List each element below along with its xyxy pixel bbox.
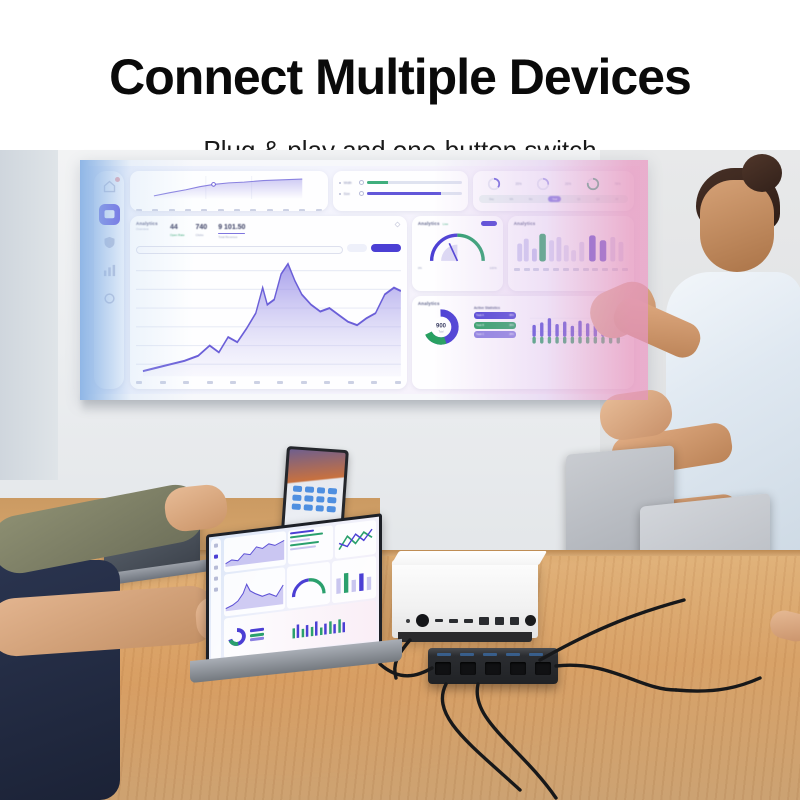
dock-usbc-port[interactable] xyxy=(435,619,443,622)
analytics-area-chart xyxy=(136,257,401,380)
card-gauge: Analytics Live xyxy=(412,216,503,291)
hub-port[interactable] xyxy=(485,662,501,675)
axis-ticks-x xyxy=(514,268,628,271)
segment-option[interactable]: Day xyxy=(489,198,494,201)
top-trend-line-chart xyxy=(136,176,322,202)
donut-center-label: Total xyxy=(438,331,443,334)
dock-hdmi-port[interactable] xyxy=(479,617,489,625)
gauge-min: 0% xyxy=(418,266,422,270)
legend-label: Track C xyxy=(476,333,484,336)
segment-option[interactable]: Wk xyxy=(510,198,514,201)
mini-icon xyxy=(214,576,218,580)
dock-usba-port[interactable] xyxy=(449,619,458,623)
dashboard-sidebar xyxy=(94,171,124,389)
legend-row[interactable]: Track A 48% xyxy=(474,312,516,319)
legend-row[interactable]: Track C 28% xyxy=(474,331,516,338)
legend-title: Active Statistics xyxy=(474,306,516,310)
shield-icon[interactable] xyxy=(102,235,117,250)
segment-option[interactable]: All xyxy=(615,198,618,201)
legend-label: Track A xyxy=(476,314,484,317)
card-title: Analytics xyxy=(136,221,170,226)
dock-displayport[interactable] xyxy=(495,617,504,625)
toggle-label-1: Width xyxy=(344,181,356,185)
room-wall-corner xyxy=(0,150,58,480)
mini-card-scatter xyxy=(335,520,376,559)
diamond-icon[interactable] xyxy=(394,221,401,228)
hub-port[interactable] xyxy=(460,662,476,675)
hub-port-row[interactable] xyxy=(435,662,551,675)
card-title: Analytics xyxy=(514,221,628,226)
legend-row[interactable]: Track B 36% xyxy=(474,322,516,329)
slider-track-1[interactable] xyxy=(367,181,463,183)
ring-value-2: 26% xyxy=(565,182,571,186)
presenter-head xyxy=(700,180,774,272)
dock-audio-jack[interactable] xyxy=(525,615,536,626)
toggle-knob-2[interactable] xyxy=(359,191,364,196)
segmented-control[interactable]: Day Wk Mo Year Q1 Q2 All xyxy=(479,195,628,203)
hub-indicator-row xyxy=(437,653,543,656)
segment-option[interactable]: Mo xyxy=(529,198,533,201)
dock-top-face xyxy=(391,551,547,565)
donut-chart: 900 Total xyxy=(418,307,464,347)
home-icon[interactable] xyxy=(102,179,117,194)
legend-label: Track B xyxy=(476,324,484,327)
segment-option[interactable]: Q1 xyxy=(577,198,580,201)
card-analytics-main: Analytics Overview 44 Open Rate 740 xyxy=(130,216,407,389)
filter-button[interactable] xyxy=(371,244,401,252)
toggle-knob-1[interactable] xyxy=(359,180,364,185)
segment-option-selected[interactable]: Year xyxy=(548,196,561,202)
product-marketing-image: Connect Multiple Devices Plug & play and… xyxy=(0,0,800,800)
kpi-open-rate: 44 Open Rate xyxy=(170,224,185,237)
kpi-revenue: 9 101.50 Total Revenue xyxy=(218,224,245,239)
gauge-max: 100% xyxy=(490,266,497,270)
kpi-value: 9 101.50 xyxy=(218,224,245,231)
kpi-label: Clicks xyxy=(196,233,208,237)
dashboard-content: Width Size xyxy=(130,171,634,389)
dock-usba-port[interactable] xyxy=(464,619,473,623)
kpi-value: 740 xyxy=(196,224,208,231)
slider-track-2[interactable] xyxy=(367,192,463,195)
donut-center-value: 900 xyxy=(436,324,447,330)
mini-icon-active xyxy=(214,554,218,558)
toggle-label-2: Size xyxy=(344,192,356,196)
dock-foot xyxy=(398,632,532,642)
dock-led xyxy=(406,619,410,623)
kpi-underline xyxy=(218,233,245,234)
kvm-switch-hub-front[interactable] xyxy=(428,648,558,684)
card-title: Analytics xyxy=(418,221,440,226)
analytics-icon[interactable] xyxy=(102,263,117,278)
legend-value: 48% xyxy=(509,314,514,317)
notification-badge xyxy=(115,177,120,182)
legend-value: 28% xyxy=(509,333,514,336)
gauge-badge: Live xyxy=(443,222,449,226)
reset-button[interactable] xyxy=(347,244,367,252)
ring-3 xyxy=(586,177,600,191)
chat-icon[interactable] xyxy=(102,207,117,222)
card-progress-rings: 35% 26% 78% xyxy=(473,171,634,211)
card-trend-line xyxy=(130,171,328,211)
kpi-label: Total Revenue xyxy=(218,235,245,239)
mini-card-area xyxy=(224,531,286,572)
bullet xyxy=(339,182,341,184)
hub-port[interactable] xyxy=(535,662,551,675)
mini-card-area-2 xyxy=(224,567,285,617)
ring-value-3: 78% xyxy=(614,182,620,186)
bullet xyxy=(339,193,341,195)
docking-station-front xyxy=(392,560,538,638)
card-subtitle: Overview xyxy=(136,227,170,231)
legend-value: 36% xyxy=(509,324,514,327)
mini-icon xyxy=(214,565,218,569)
kpi-value: 44 xyxy=(170,224,185,231)
card-toggles: Width Size xyxy=(333,171,469,211)
dock-power-port[interactable] xyxy=(416,614,429,627)
mini-card-bars xyxy=(332,556,376,604)
mini-dashboard xyxy=(224,520,376,659)
foreground-laptop-display xyxy=(209,517,379,664)
dock-port-row[interactable] xyxy=(406,614,536,627)
ring-value-1: 35% xyxy=(515,182,521,186)
mini-card-gauge xyxy=(287,561,331,609)
axis-ticks xyxy=(136,209,322,211)
hub-port[interactable] xyxy=(435,662,451,675)
search-input[interactable] xyxy=(136,246,343,254)
analytics-bar-chart xyxy=(514,228,628,264)
hub-port[interactable] xyxy=(510,662,526,675)
gauge-chart xyxy=(418,227,497,265)
segment-option[interactable]: Q2 xyxy=(596,198,599,201)
mini-icon xyxy=(214,543,218,547)
ring-1 xyxy=(487,177,501,191)
card-bar-chart: Analytics xyxy=(508,216,634,291)
kpi-clicks: 740 Clicks xyxy=(196,224,208,237)
projector-screen: Width Size xyxy=(80,160,648,400)
mini-sidebar xyxy=(211,538,221,661)
tablet-app-grid[interactable] xyxy=(292,485,338,512)
kpi-label: Open Rate xyxy=(170,233,185,237)
page-headline: Connect Multiple Devices xyxy=(0,48,800,106)
axis-ticks-x xyxy=(136,381,401,384)
ring-2 xyxy=(536,177,550,191)
mini-icon xyxy=(214,587,218,591)
gauge-view-button[interactable] xyxy=(481,221,497,226)
presenter-hair-bun xyxy=(742,154,782,192)
card-title: Analytics xyxy=(418,301,470,306)
mini-card-list xyxy=(288,525,333,564)
dock-ethernet-port[interactable] xyxy=(510,617,519,625)
settings-icon[interactable] xyxy=(102,291,117,306)
